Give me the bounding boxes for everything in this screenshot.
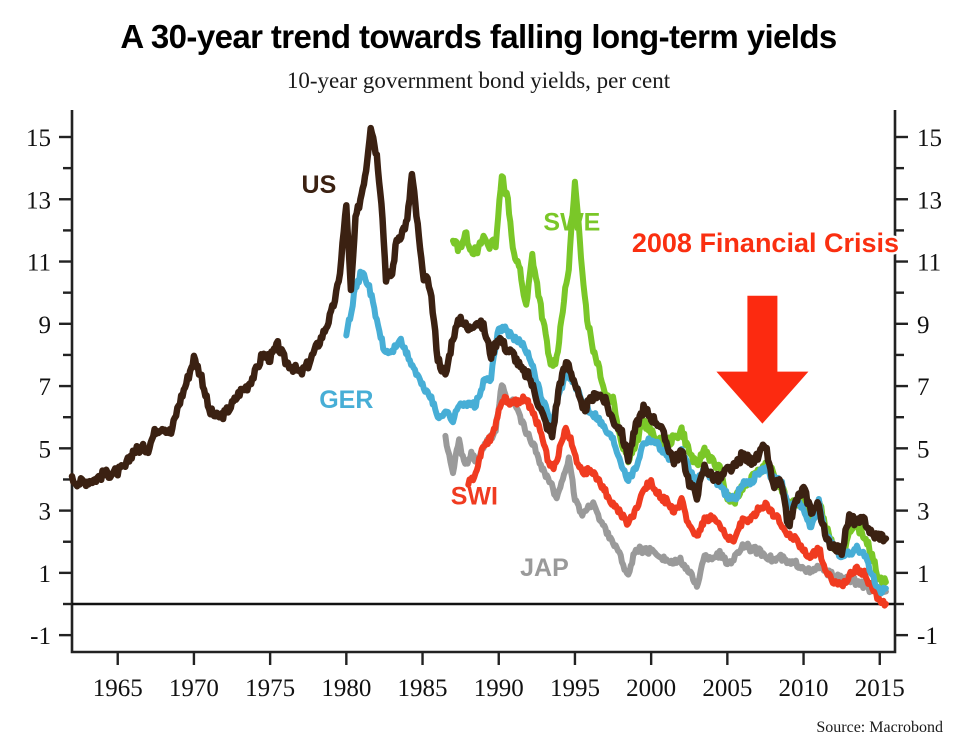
series-label-swi: SWI: [451, 482, 498, 510]
x-tick-label: 2015: [855, 675, 905, 702]
y-tick-label-left: 3: [39, 499, 52, 526]
x-tick-label: 1970: [169, 675, 219, 702]
x-tick-label: 2000: [626, 675, 676, 702]
y-tick-label-left: -1: [30, 623, 51, 650]
x-tick-label: 1980: [321, 675, 371, 702]
x-tick-label: 1985: [398, 675, 448, 702]
y-tick-label-right: -1: [917, 623, 938, 650]
y-tick-label-right: 1: [917, 561, 930, 588]
x-tick-label: 1965: [93, 675, 143, 702]
x-tick-label: 1990: [474, 675, 524, 702]
y-tick-label-left: 11: [27, 250, 51, 277]
y-tick-label-right: 7: [917, 374, 930, 401]
crisis-label: 2008 Financial Crisis: [632, 228, 899, 258]
y-tick-label-right: 15: [917, 125, 942, 152]
y-tick-label-left: 13: [26, 187, 51, 214]
y-tick-label-left: 7: [39, 374, 52, 401]
y-tick-label-right: 13: [917, 187, 942, 214]
x-tick-label: 1975: [245, 675, 295, 702]
y-tick-label-right: 9: [917, 312, 930, 339]
series-label-ger: GER: [319, 386, 373, 414]
y-tick-label-right: 3: [917, 499, 930, 526]
x-tick-label: 2005: [702, 675, 752, 702]
y-tick-label-right: 5: [917, 436, 930, 463]
series-label-us: US: [302, 171, 337, 199]
down-arrow-icon: [716, 296, 808, 424]
x-tick-label: 1995: [550, 675, 600, 702]
series-label-swe: SWE: [543, 208, 600, 236]
y-tick-label-left: 5: [39, 436, 52, 463]
y-tick-label-left: 1: [39, 561, 52, 588]
crisis-annotation: 2008 Financial Crisis2008 Financial Cris…: [632, 228, 899, 423]
chart-source-note: Source: Macrobond: [816, 719, 943, 737]
x-axis: 1965197019751980198519901995200020052010…: [93, 652, 905, 702]
chart-figure: A 30-year trend towards falling long-ter…: [0, 0, 957, 747]
y-tick-label-right: 11: [917, 250, 941, 277]
x-tick-label: 2010: [779, 675, 829, 702]
chart-plot-area: -1-1113355779911111313151519651970197519…: [0, 0, 957, 747]
y-tick-label-left: 15: [26, 125, 51, 152]
y-tick-label-left: 9: [39, 312, 52, 339]
series-label-jap: JAP: [520, 554, 569, 582]
